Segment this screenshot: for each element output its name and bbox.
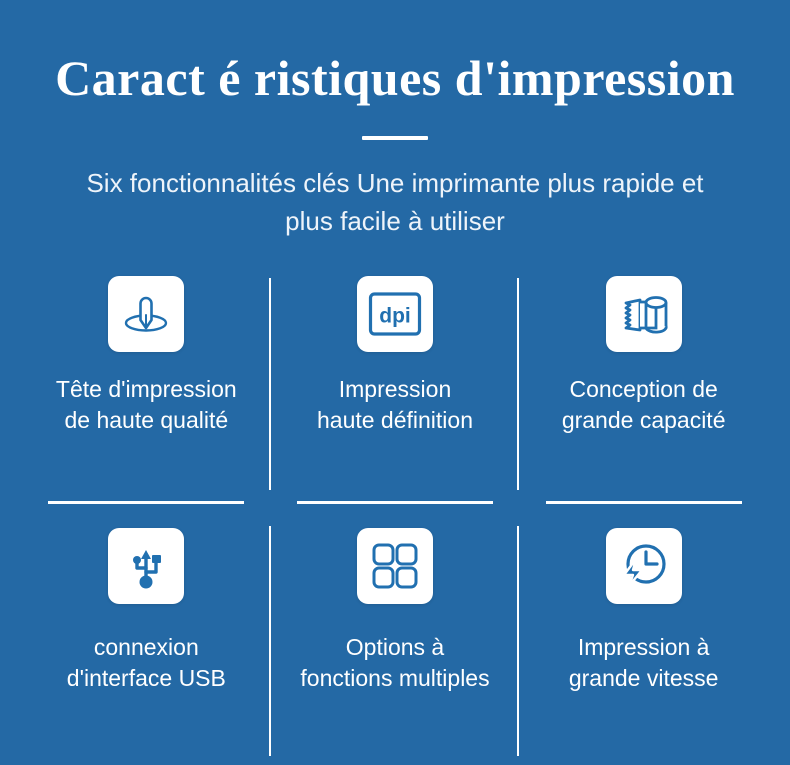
clock-bolt-icon — [618, 541, 670, 591]
feature-label: Tête d'impression de haute qualité — [56, 374, 237, 436]
icon-tile — [606, 528, 682, 604]
icon-tile: dpi — [357, 276, 433, 352]
print-head-icon — [121, 289, 171, 339]
feature-item-multifunction: Options à fonctions multiples — [271, 518, 520, 764]
paper-roll-icon — [618, 290, 670, 338]
icon-tile — [108, 276, 184, 352]
icon-tile — [606, 276, 682, 352]
feature-grid: Tête d'impression de haute qualité dpi I… — [0, 272, 790, 764]
svg-text:dpi: dpi — [379, 305, 411, 328]
feature-item-print-head: Tête d'impression de haute qualité — [22, 272, 271, 518]
usb-icon — [122, 541, 170, 591]
title-divider — [362, 136, 428, 140]
feature-label: connexion d'interface USB — [67, 632, 226, 694]
page-title: Caract é ristiques d'impression — [0, 48, 790, 108]
feature-label: Conception de grande capacité — [562, 374, 726, 436]
feature-item-usb: connexion d'interface USB — [22, 518, 271, 764]
grid-four-squares-icon — [370, 541, 420, 591]
poster-header: Caract é ristiques d'impression Six fonc… — [0, 0, 790, 240]
icon-tile — [357, 528, 433, 604]
dpi-icon: dpi — [368, 291, 422, 337]
feature-item-paper-roll: Conception de grande capacité — [519, 272, 768, 518]
feature-poster: Caract é ristiques d'impression Six fonc… — [0, 0, 790, 765]
icon-tile — [108, 528, 184, 604]
feature-label: Impression haute définition — [317, 374, 473, 436]
feature-label: Options à fonctions multiples — [300, 632, 489, 694]
feature-item-high-speed: Impression à grande vitesse — [519, 518, 768, 764]
feature-item-dpi: dpi Impression haute définition — [271, 272, 520, 518]
feature-label: Impression à grande vitesse — [569, 632, 719, 694]
page-subtitle: Six fonctionnalités clés Une imprimante … — [75, 164, 715, 240]
